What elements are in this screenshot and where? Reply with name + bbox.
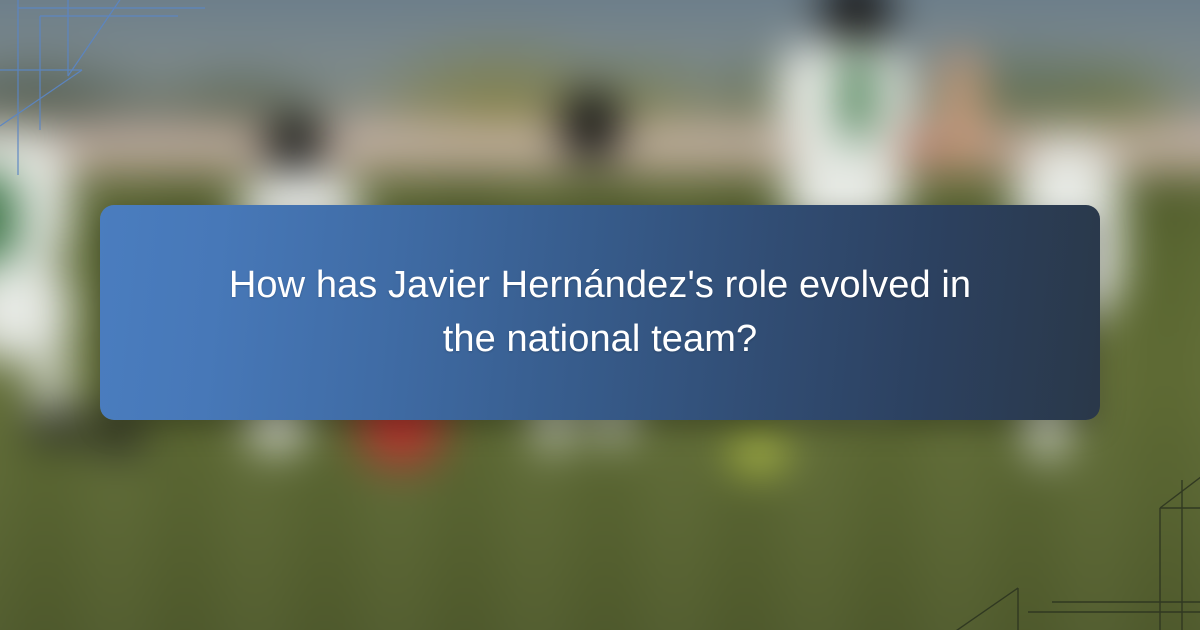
player-head-mid [560, 90, 622, 162]
player-shoe-yellow [730, 440, 786, 468]
player-jersey-stripe-right [840, 50, 874, 145]
player-shoe-dark-left-2 [90, 420, 146, 450]
question-text: How has Javier Hernández's role evolved … [220, 259, 980, 367]
player-arm-right [940, 50, 982, 170]
player-shoe-dark-left [28, 410, 88, 440]
question-card: How has Javier Hernández's role evolved … [100, 205, 1100, 420]
player-shorts-left [0, 260, 70, 360]
og-image-canvas: How has Javier Hernández's role evolved … [0, 0, 1200, 630]
